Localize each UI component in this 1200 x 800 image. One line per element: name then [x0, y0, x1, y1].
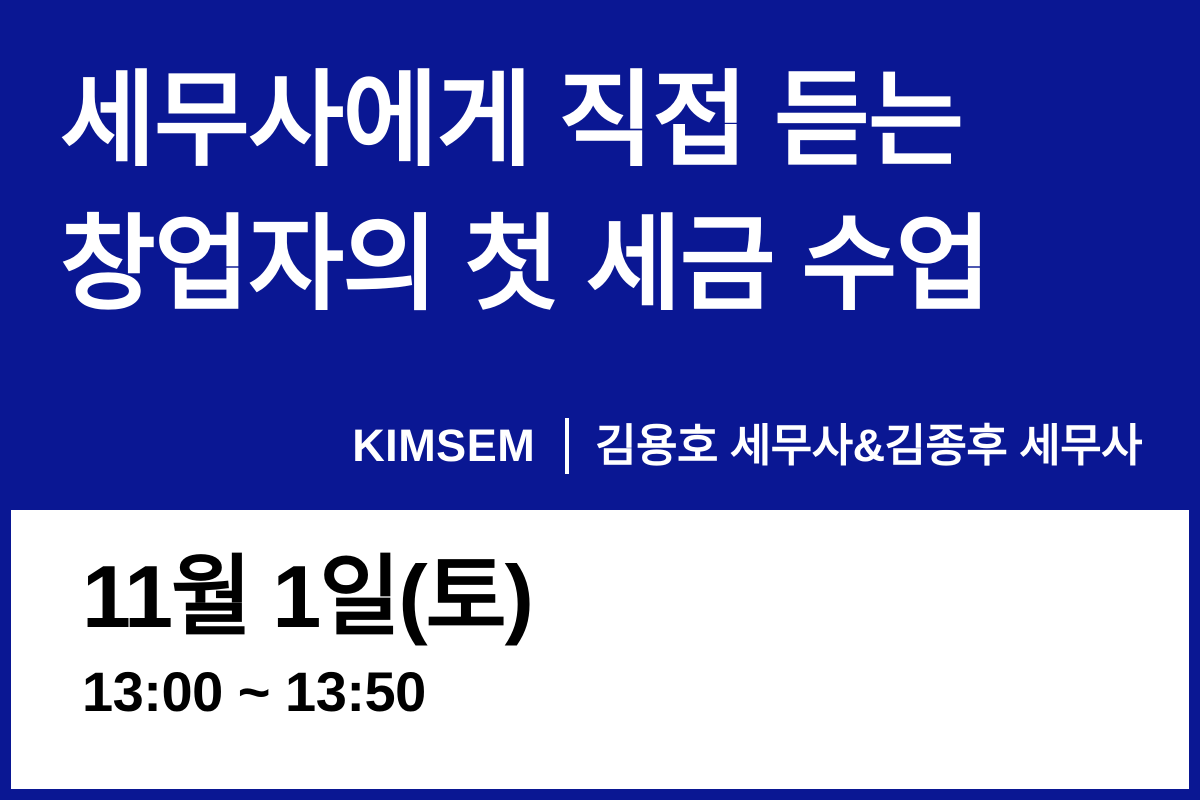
- presenter-row: KIMSEM 김용호 세무사&김종후 세무사: [0, 418, 1200, 474]
- hero-section: 세무사에게 직접 듣는 창업자의 첫 세금 수업 KIMSEM 김용호 세무사&…: [0, 0, 1200, 510]
- vertical-divider-icon: [565, 418, 569, 474]
- brand-name: KIMSEM: [352, 418, 535, 474]
- title-line-2: 창업자의 첫 세금 수업: [60, 206, 1140, 324]
- schedule-content: 11월 1일(토) 13:00 ~ 13:50: [82, 548, 532, 724]
- schedule-card: 11월 1일(토) 13:00 ~ 13:50: [11, 510, 1189, 789]
- title-line-1: 세무사에게 직접 듣는: [60, 62, 1140, 180]
- seminar-banner: 세무사에게 직접 듣는 창업자의 첫 세금 수업 KIMSEM 김용호 세무사&…: [0, 0, 1200, 800]
- speaker-names: 김용호 세무사&김종후 세무사: [595, 418, 1142, 474]
- page-title: 세무사에게 직접 듣는 창업자의 첫 세금 수업: [60, 62, 1140, 324]
- event-time: 13:00 ~ 13:50: [82, 660, 532, 724]
- event-date: 11월 1일(토): [82, 548, 532, 646]
